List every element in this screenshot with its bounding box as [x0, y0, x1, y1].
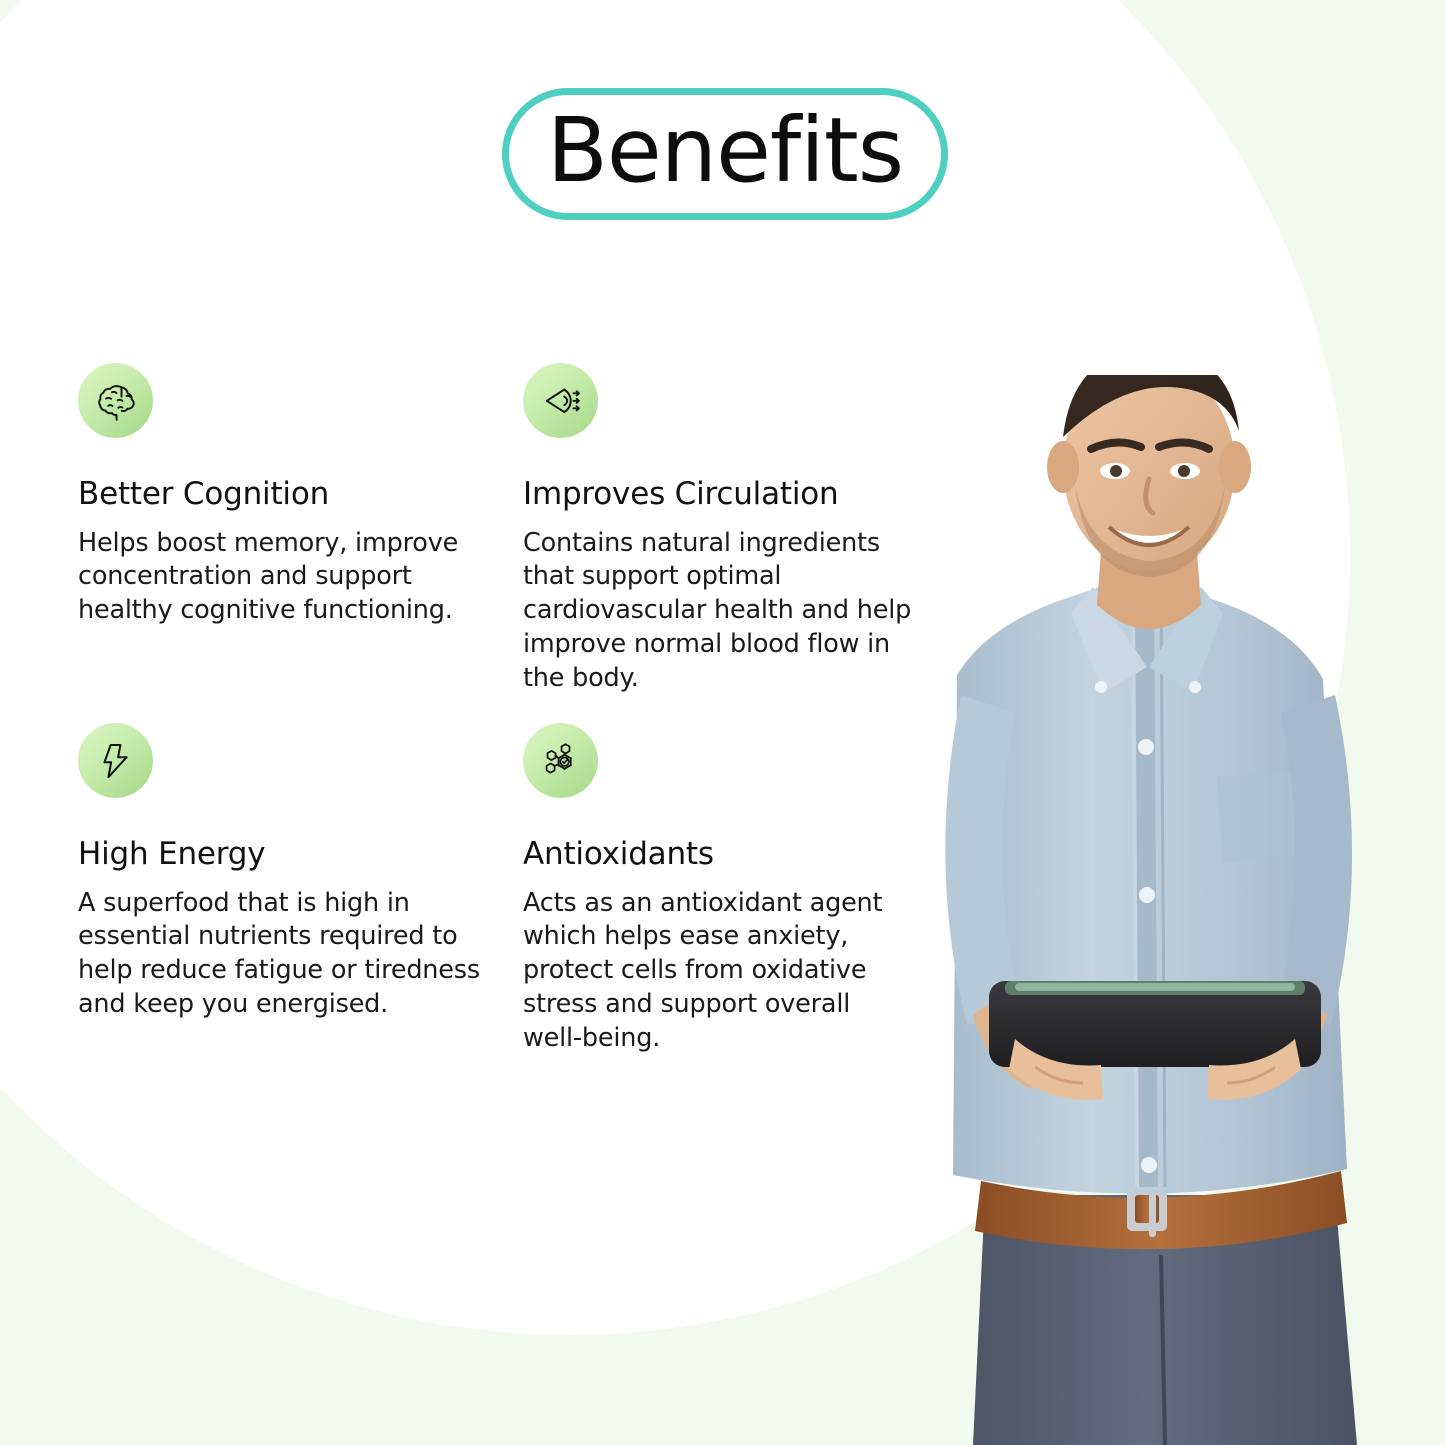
blood-flow-icon	[539, 379, 583, 423]
brain-icon	[94, 379, 138, 423]
benefit-card-improves-circulation: Improves Circulation Contains natural in…	[523, 363, 938, 723]
molecule-check-icon	[539, 739, 583, 783]
blood-flow-icon-badge	[523, 363, 598, 438]
benefit-card-high-energy: High Energy A superfood that is high in …	[78, 723, 523, 1056]
benefit-title: Improves Circulation	[523, 478, 938, 511]
page-title-pill: Benefits	[502, 88, 948, 220]
brain-icon-badge	[78, 363, 153, 438]
benefit-card-better-cognition: Better Cognition Helps boost memory, imp…	[78, 363, 523, 723]
benefit-title: Better Cognition	[78, 478, 503, 511]
page-title: Benefits	[547, 106, 903, 195]
molecule-check-icon-badge	[523, 723, 598, 798]
benefit-body: Contains natural ingredients that suppor…	[523, 527, 938, 697]
benefit-title: Antioxidants	[523, 838, 938, 871]
benefit-body: A superfood that is high in essential nu…	[78, 887, 503, 1023]
benefit-body: Helps boost memory, improve concentratio…	[78, 527, 503, 629]
lightning-bolt-icon-badge	[78, 723, 153, 798]
benefit-body: Acts as an antioxidant agent which helps…	[523, 887, 938, 1057]
lightning-bolt-icon	[94, 739, 138, 783]
benefits-row-1: Better Cognition Helps boost memory, imp…	[78, 363, 938, 723]
benefits-row-2: High Energy A superfood that is high in …	[78, 723, 938, 1056]
benefit-card-antioxidants: Antioxidants Acts as an antioxidant agen…	[523, 723, 938, 1056]
benefit-title: High Energy	[78, 838, 503, 871]
benefits-infographic: Benefits	[0, 0, 1445, 1445]
benefits-grid: Better Cognition Helps boost memory, imp…	[78, 363, 938, 1056]
